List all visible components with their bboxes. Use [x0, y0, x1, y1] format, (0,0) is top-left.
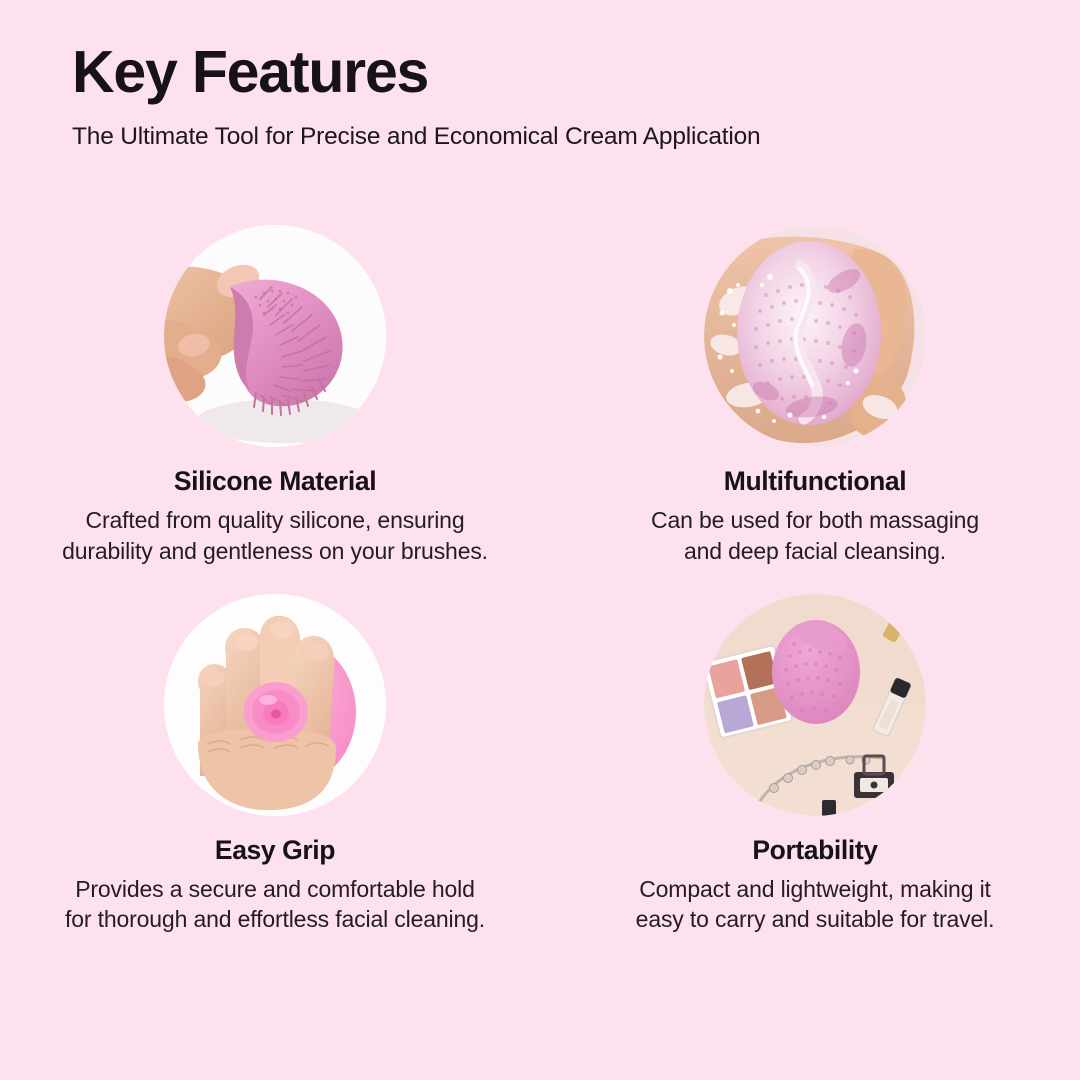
portability-photo — [704, 594, 926, 816]
feature-title: Silicone Material — [174, 467, 376, 496]
easy-grip-photo — [164, 594, 386, 816]
hand-bending-silicone-brush-pad-icon — [164, 225, 386, 447]
flatlay-pad-with-makeup-items-icon — [704, 594, 926, 816]
header: Key Features The Ultimate Tool for Preci… — [72, 42, 1012, 151]
page-title: Key Features — [72, 42, 1012, 104]
feature-description: Can be used for both massaging and deep … — [650, 505, 980, 566]
hand-wearing-finger-loop-pad-icon — [164, 594, 386, 816]
feature-description: Crafted from quality silicone, ensuring … — [60, 505, 490, 566]
features-grid: Silicone Material Crafted from quality s… — [0, 225, 1080, 935]
feature-card-portability: Portability Compact and lightweight, mak… — [540, 594, 1080, 935]
feature-title: Easy Grip — [215, 836, 335, 865]
feature-description: Compact and lightweight, making it easy … — [635, 874, 995, 935]
page-subtitle: The Ultimate Tool for Precise and Econom… — [72, 122, 1012, 151]
multifunctional-photo — [704, 225, 926, 447]
feature-description: Provides a secure and comfortable hold f… — [60, 874, 490, 935]
hand-holding-foamy-cleansing-pad-icon — [704, 225, 926, 447]
feature-title: Multifunctional — [724, 467, 906, 496]
silicone-material-photo — [164, 225, 386, 447]
feature-title: Portability — [752, 836, 877, 865]
feature-card-multifunctional: Multifunctional Can be used for both mas… — [540, 225, 1080, 566]
infographic-page: Key Features The Ultimate Tool for Preci… — [0, 0, 1080, 1080]
feature-card-silicone-material: Silicone Material Crafted from quality s… — [0, 225, 540, 566]
feature-card-easy-grip: Easy Grip Provides a secure and comforta… — [0, 594, 540, 935]
